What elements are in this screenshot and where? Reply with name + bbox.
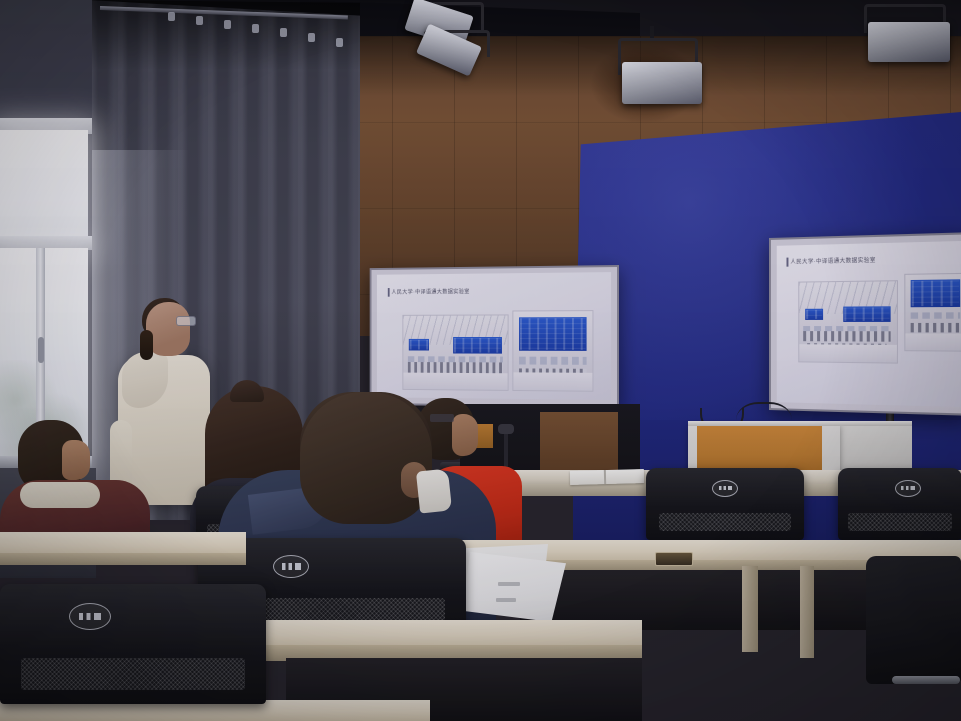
lectern-top-edge [688,421,912,426]
curtain-hook-icon [224,20,231,29]
office-chair-right[interactable] [866,556,961,684]
chair-back-row-right[interactable] [838,468,961,540]
curtain-hook-icon [168,12,175,21]
chair-bottom-left[interactable] [0,584,266,704]
standing-presenter-ponytail [140,330,153,360]
chair-crest-icon [895,480,921,497]
chair-crest-icon [69,603,111,630]
handout-papers [462,552,566,622]
left-slide-photo-right [512,310,593,392]
curtain-hook-icon [308,33,315,42]
desk-front-top [250,620,642,648]
podium-side-panel [838,424,912,472]
stage-light-3 [612,26,716,112]
paper-text-line [496,598,516,602]
notebook-spine [604,470,606,484]
right-display-slide: 人民大学·中译语通大数据实验室 [777,241,961,407]
left-slide-title: 人民大学·中译语通大数据实验室 [391,287,469,295]
glasses-icon [430,414,454,422]
open-notebook [570,469,644,485]
chair-crest-icon [712,480,738,497]
red-shirt-person-face [452,414,478,456]
desk-leg [742,566,758,652]
left-display-slide: 人民大学·中译语通大数据实验室 [377,272,611,400]
chair-back-row-left[interactable] [646,468,804,540]
slide-title-accent [388,288,389,297]
window-glass-upper [0,130,88,244]
right-slide-photo-right [904,273,961,352]
right-slide-photo-left [798,280,898,363]
chair-crest-icon [273,555,309,578]
left-slide-photo-left [402,314,508,390]
stage-light-4 [858,0,961,78]
paper-text-line [498,582,520,586]
front-left-person-face [62,440,90,480]
stage-light-2 [418,26,498,100]
front-left-person-scarf [20,482,100,508]
curtain-hook-icon [336,38,343,47]
desk-leg [800,566,814,658]
curtain-hook-icon [196,16,203,25]
equipment-wood-panel [540,412,618,474]
curtain-hook-icon [252,24,259,33]
classroom-photo-scene: 人民大学·中译语通大数据实验室 人民大学·中译语通大数据实验室 [0,0,961,721]
office-chair-base [892,676,960,684]
curtain-hook-icon [280,28,287,37]
desk-left-edge [0,553,246,565]
slide-title-accent [786,258,788,267]
desk-cable-port [655,552,693,566]
navy-blazer-man-head [300,392,432,524]
right-presentation-display[interactable]: 人民大学·中译语通大数据实验室 [769,232,961,416]
right-slide-title: 人民大学·中译语通大数据实验室 [790,256,875,266]
microphone-icon [498,424,514,434]
left-presentation-display[interactable]: 人民大学·中译语通大数据实验室 [370,265,619,408]
face-mask-icon [416,468,452,513]
glasses-icon [176,316,196,326]
window-handle[interactable] [38,337,44,363]
